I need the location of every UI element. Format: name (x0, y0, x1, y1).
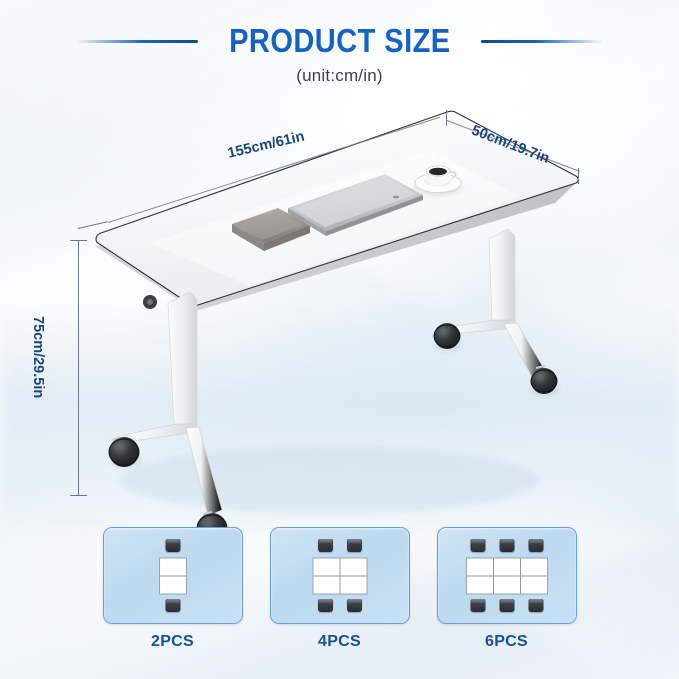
configuration-label-2pcs: 2PCS (151, 633, 194, 651)
depth-tick-start (446, 110, 447, 126)
configuration-diagram-4pcs (270, 527, 410, 624)
background-light-streak (432, 62, 679, 438)
table-unit (340, 558, 366, 575)
configuration-2pcs: 2PCS (103, 527, 243, 657)
configuration-row: 2PCS 4PCS (0, 527, 679, 657)
caster-wheel (434, 323, 462, 351)
configuration-label-6pcs: 6PCS (485, 633, 528, 651)
page-title: PRODUCT SIZE (229, 22, 450, 60)
configuration-label-4pcs: 4PCS (318, 633, 361, 651)
unit-subtitle: (unit:cm/in) (0, 66, 679, 86)
floor-shading (0, 300, 679, 530)
title-rule-right (481, 40, 603, 43)
laptop-on-desk (288, 174, 423, 236)
title-rule-left (76, 40, 198, 43)
configuration-diagram-6pcs (437, 527, 577, 624)
chair-row-bottom (470, 599, 543, 612)
chair-icon (318, 599, 333, 612)
chair-icon (499, 599, 514, 612)
height-dimension-line (78, 240, 79, 496)
depth-dimension-label: 50cm/19.7in (469, 123, 552, 167)
chair-row-top (318, 539, 362, 552)
height-tick-bottom (70, 495, 87, 496)
chair-icon (499, 539, 514, 552)
chair-icon (318, 539, 333, 552)
chair-icon (347, 599, 362, 612)
chair-row-bottom (318, 599, 362, 612)
notebook-on-desk (232, 208, 310, 251)
table-unit (467, 576, 493, 593)
table-unit (521, 576, 547, 593)
depth-tick-end (578, 168, 579, 184)
length-leader-line (78, 221, 107, 229)
height-tick-top (70, 240, 87, 241)
length-dimension-label: 155cm/61in (226, 129, 306, 162)
chair-icon (165, 539, 180, 552)
table-unit (494, 558, 520, 575)
chair-icon (347, 539, 362, 552)
configuration-4pcs: 4PCS (270, 527, 410, 657)
table-layout (159, 557, 187, 594)
folding-hinge-knob (143, 295, 157, 309)
table-unit (160, 558, 186, 575)
caster-wheel (109, 437, 142, 468)
title-row: PRODUCT SIZE (0, 22, 679, 60)
table-layout (312, 557, 367, 594)
table-unit (313, 558, 339, 575)
configuration-diagram-2pcs (103, 527, 243, 624)
table-unit (521, 558, 547, 575)
table-leg-right (434, 229, 559, 397)
product-size-infographic: PRODUCT SIZE (unit:cm/in) (0, 0, 679, 679)
table-unit (340, 576, 366, 593)
chair-icon (528, 599, 543, 612)
header: PRODUCT SIZE (unit:cm/in) (0, 22, 679, 86)
chair-row-bottom (165, 599, 180, 612)
table-unit (313, 576, 339, 593)
table-unit (494, 576, 520, 593)
table-leg-left (109, 292, 230, 545)
chair-row-top (165, 539, 180, 552)
chair-icon (165, 599, 180, 612)
chair-icon (528, 539, 543, 552)
table-unit (160, 576, 186, 593)
table-layout (466, 557, 548, 594)
chair-icon (470, 539, 485, 552)
configuration-6pcs: 6PCS (437, 527, 577, 657)
chair-icon (470, 599, 485, 612)
background-light-streak (0, 202, 316, 478)
height-dimension-label: 75cm/29.5in (30, 316, 46, 398)
length-dimension-line (108, 117, 440, 223)
table-unit (467, 558, 493, 575)
coffee-cup-on-desk (414, 166, 462, 196)
chair-row-top (470, 539, 543, 552)
caster-wheel (531, 366, 559, 397)
